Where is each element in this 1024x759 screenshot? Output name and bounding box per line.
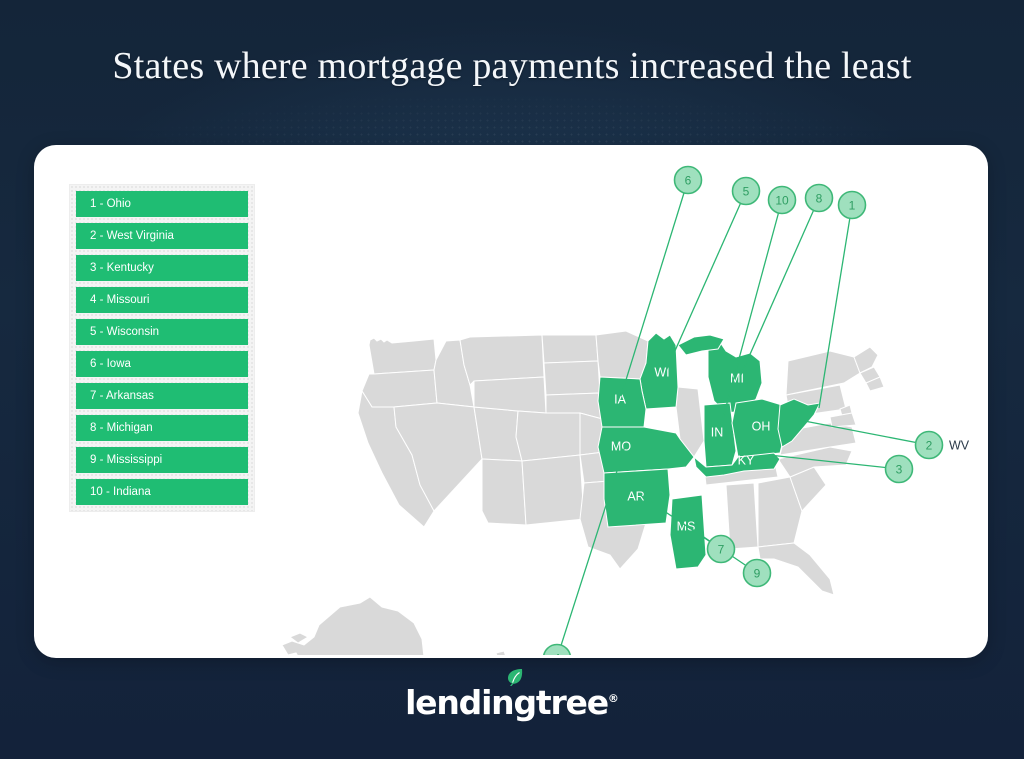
state-label-mo: MO bbox=[611, 439, 631, 453]
map-pin-9[interactable]: 9 bbox=[744, 560, 771, 587]
state-label-oh: OH bbox=[752, 419, 771, 433]
list-item[interactable]: 3 - Kentucky bbox=[76, 255, 248, 281]
brand-logo[interactable]: lendingtree® bbox=[0, 683, 1024, 733]
pin-label-7: 7 bbox=[718, 543, 725, 557]
pin-label-3: 3 bbox=[896, 463, 903, 477]
map-pin-7[interactable]: 7 bbox=[708, 536, 735, 563]
state-label-ia: IA bbox=[614, 392, 626, 406]
state-label-wv: WV bbox=[949, 438, 970, 452]
logo-text: lendingtree bbox=[405, 683, 608, 722]
list-item[interactable]: 1 - Ohio bbox=[76, 191, 248, 217]
map-pin-4[interactable]: 4 bbox=[544, 645, 571, 656]
map-pin-8[interactable]: 8 bbox=[806, 185, 833, 212]
logo-wordmark: lendingtree® bbox=[405, 683, 619, 722]
infographic-canvas: States where mortgage payments increased… bbox=[0, 0, 1024, 759]
list-item[interactable]: 6 - Iowa bbox=[76, 351, 248, 377]
pin-label-6: 6 bbox=[685, 174, 692, 188]
pin-label-2: 2 bbox=[926, 439, 933, 453]
map-pin-10[interactable]: 10 bbox=[769, 187, 796, 214]
list-item[interactable]: 5 - Wisconsin bbox=[76, 319, 248, 345]
rank-legend: 1 - Ohio 2 - West Virginia 3 - Kentucky … bbox=[69, 184, 255, 512]
state-label-ky: KY bbox=[738, 453, 755, 467]
map-pin-6[interactable]: 6 bbox=[675, 167, 702, 194]
list-item[interactable]: 9 - Mississippi bbox=[76, 447, 248, 473]
pin-label-10: 10 bbox=[775, 194, 789, 208]
map-states-default bbox=[274, 331, 884, 655]
map-pin-3[interactable]: 3 bbox=[886, 456, 913, 483]
us-choropleth-map: WI IA MO MI IN OH KY AR MS bbox=[274, 155, 974, 655]
pin-label-1: 1 bbox=[849, 199, 856, 213]
pin-label-4: 4 bbox=[554, 652, 561, 656]
list-item[interactable]: 7 - Arkansas bbox=[76, 383, 248, 409]
map-pin-5[interactable]: 5 bbox=[733, 178, 760, 205]
list-item[interactable]: 2 - West Virginia bbox=[76, 223, 248, 249]
content-card: 1 - Ohio 2 - West Virginia 3 - Kentucky … bbox=[34, 145, 988, 658]
state-label-in: IN bbox=[711, 425, 724, 439]
map-pin-1[interactable]: 1 bbox=[839, 192, 866, 219]
list-item[interactable]: 4 - Missouri bbox=[76, 287, 248, 313]
list-item[interactable]: 10 - Indiana bbox=[76, 479, 248, 505]
page-title: States where mortgage payments increased… bbox=[0, 44, 1024, 88]
list-item[interactable]: 8 - Michigan bbox=[76, 415, 248, 441]
pin-label-5: 5 bbox=[743, 185, 750, 199]
pin-label-8: 8 bbox=[816, 192, 823, 206]
pin-label-9: 9 bbox=[754, 567, 761, 581]
leaf-icon bbox=[505, 667, 525, 687]
map-pin-2[interactable]: 2 bbox=[916, 432, 943, 459]
leader-line-8 bbox=[740, 198, 819, 377]
registered-trademark-icon: ® bbox=[608, 692, 619, 705]
